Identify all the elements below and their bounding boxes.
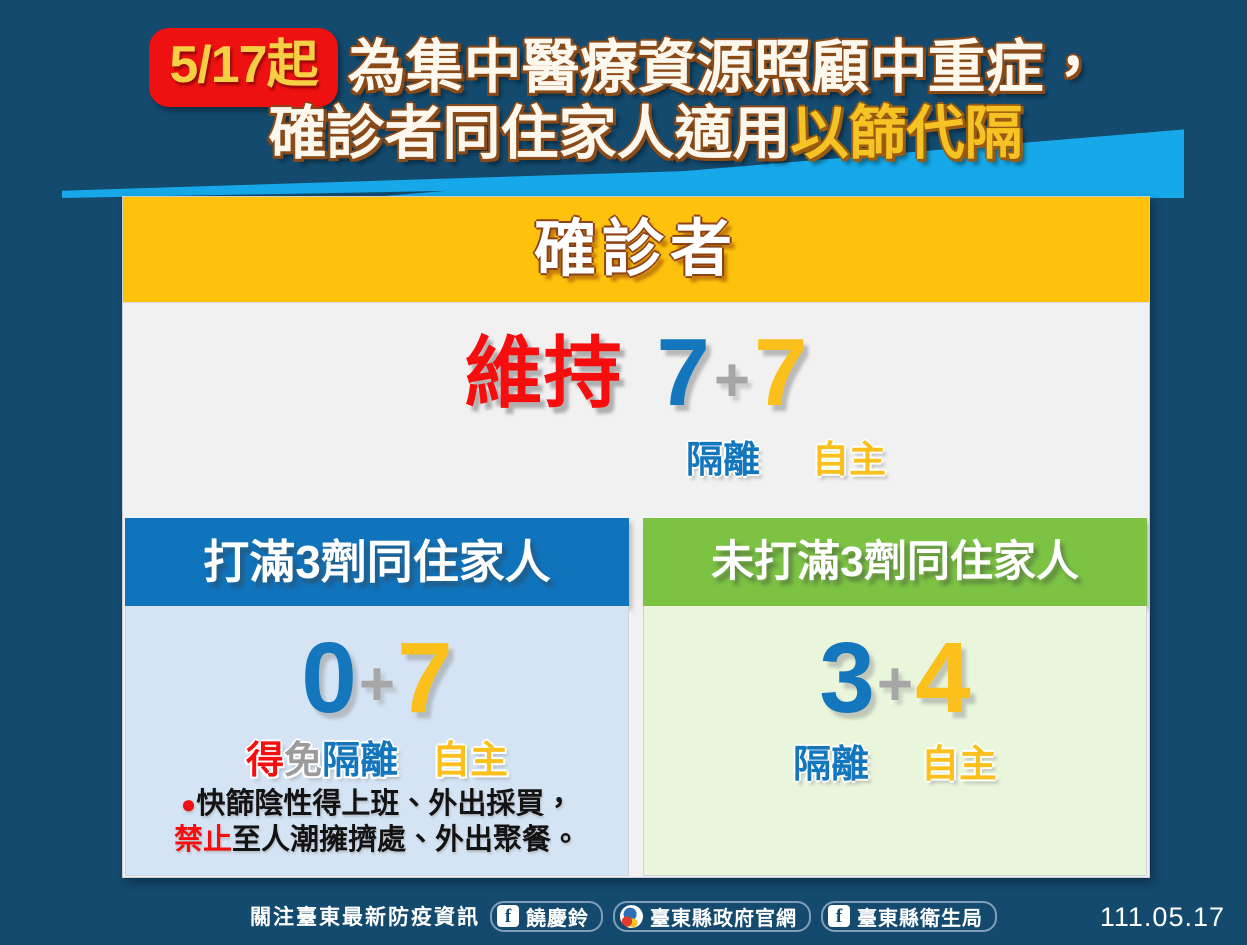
- infographic-root: { "headline": { "date_badge": "5/17起", "…: [0, 0, 1247, 945]
- headline-line1-text: 為集中醫療資源照顧中重症，: [348, 37, 1102, 98]
- confirmed-case-banner: 確診者: [123, 197, 1149, 303]
- facebook-icon: f: [828, 905, 850, 927]
- sub-labels-not-fully-vaccinated: 隔離 自主: [644, 746, 1146, 784]
- badge-facebook-rao-ching-ling[interactable]: f 饒慶鈴: [490, 901, 603, 932]
- main-info-card: 確診者 維持 7 + 7 隔離 自主 打滿3劑同住家人 0 + 7: [122, 196, 1150, 878]
- sub-label-exempt: 免: [284, 742, 322, 780]
- sub-label-self: 自主: [921, 746, 997, 784]
- bullet-icon: ●: [181, 789, 197, 819]
- publish-date: 111.05.17: [1100, 902, 1225, 933]
- formula-not-fully-vaccinated: 3 + 4: [644, 606, 1146, 728]
- maintain-isolation-days: 7: [657, 325, 710, 421]
- badge-taitung-government-website[interactable]: 臺東縣政府官網: [613, 901, 811, 932]
- maintain-self-label: 自主: [812, 441, 886, 478]
- follow-text: 關注臺東最新防疫資訊: [250, 901, 480, 931]
- headline-line-1: 5/17起 為集中醫療資源照顧中重症，: [0, 28, 1247, 107]
- confirmed-case-title: 確診者: [534, 219, 738, 281]
- badge-label: 饒慶鈴: [526, 902, 589, 931]
- self-health-days-value: 7: [397, 628, 453, 728]
- badge-label: 臺東縣政府官網: [650, 902, 797, 931]
- note-text-part2: 至人潮擁擠處、外出聚餐。: [232, 824, 580, 856]
- column-header-not-fully-vaccinated: 未打滿3劑同住家人: [643, 518, 1147, 606]
- maintain-self-health-days: 7: [754, 325, 807, 421]
- headline-line2-white: 確診者同住家人適用: [268, 103, 790, 164]
- taitung-logo-icon: [620, 905, 643, 928]
- sub-label-isolation: 隔離: [322, 742, 398, 780]
- formula-fully-vaccinated: 0 + 7: [126, 606, 628, 728]
- badge-facebook-health-bureau[interactable]: f 臺東縣衛生局: [821, 901, 997, 932]
- maintain-section: 維持 7 + 7 隔離 自主: [123, 303, 1149, 518]
- facebook-icon: f: [497, 905, 519, 927]
- note-text-part1: 快篩陰性得上班、外出採買，: [196, 788, 573, 820]
- plus-sign: +: [877, 654, 913, 716]
- column-body-not-fully-vaccinated: 3 + 4 隔離 自主: [643, 606, 1147, 876]
- column-not-fully-vaccinated: 未打滿3劑同住家人 3 + 4 隔離 自主: [643, 518, 1147, 876]
- headline: 5/17起 為集中醫療資源照顧中重症， 確診者同住家人適用 以篩代隔: [0, 28, 1247, 164]
- sub-label-isolation: 隔離: [793, 746, 869, 784]
- maintain-plus-sign: +: [714, 350, 750, 412]
- sub-labels-fully-vaccinated: 得 免 隔離 自主: [126, 742, 628, 780]
- comparison-columns: 打滿3劑同住家人 0 + 7 得 免 隔離 自主 ●快篩陰性得上班、外出採買， …: [123, 518, 1149, 878]
- note-prohibited-keyword: 禁止: [174, 824, 232, 856]
- footer-inner: 關注臺東最新防疫資訊 f 饒慶鈴 臺東縣政府官網 f 臺東縣衛生局: [0, 901, 1247, 932]
- maintain-formula: 維持 7 + 7: [123, 303, 1149, 421]
- isolation-days-value: 3: [819, 628, 875, 728]
- column-header-label: 未打滿3劑同住家人: [711, 541, 1079, 584]
- maintain-label: 維持: [464, 334, 622, 412]
- footer: 關注臺東最新防疫資訊 f 饒慶鈴 臺東縣政府官網 f 臺東縣衛生局: [0, 897, 1247, 935]
- headline-line2-highlight: 以篩代隔: [791, 103, 1023, 164]
- isolation-days-value: 0: [301, 628, 357, 728]
- badge-label: 臺東縣衛生局: [857, 902, 983, 931]
- maintain-isolation-label: 隔離: [686, 441, 760, 478]
- rules-note: ●快篩陰性得上班、外出採買， 禁止至人潮擁擠處、外出聚餐。: [126, 786, 628, 859]
- column-fully-vaccinated: 打滿3劑同住家人 0 + 7 得 免 隔離 自主 ●快篩陰性得上班、外出採買， …: [125, 518, 629, 876]
- maintain-sub-labels: 隔離 自主: [123, 441, 1149, 478]
- column-body-fully-vaccinated: 0 + 7 得 免 隔離 自主 ●快篩陰性得上班、外出採買， 禁止至人潮擁擠處、…: [125, 606, 629, 876]
- sub-label-de: 得: [246, 742, 284, 780]
- column-header-label: 打滿3劑同住家人: [203, 539, 551, 585]
- plus-sign: +: [359, 654, 395, 716]
- column-header-fully-vaccinated: 打滿3劑同住家人: [125, 518, 629, 606]
- sub-label-self: 自主: [432, 742, 508, 780]
- self-health-days-value: 4: [915, 628, 971, 728]
- headline-line-2: 確診者同住家人適用 以篩代隔: [0, 103, 1247, 164]
- effective-date-badge: 5/17起: [149, 28, 337, 107]
